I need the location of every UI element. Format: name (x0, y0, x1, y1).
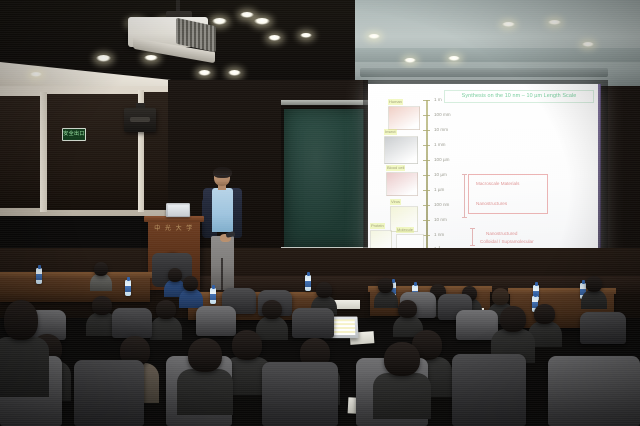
exit-sign-label: 安全出口 (63, 132, 85, 137)
attendee-shoulders (373, 373, 431, 419)
auditorium-seat (292, 308, 334, 338)
wall-column (40, 92, 47, 212)
presenter-leg-gap (221, 258, 223, 290)
presenter-laptop (166, 203, 190, 217)
scale-tick (423, 130, 430, 131)
auditorium-seat (580, 312, 626, 344)
screen-edge-right (598, 84, 601, 262)
lecture-hall-photo: 安全出口 Synthesis on the 10 nm – 10 µm Leng… (0, 0, 640, 426)
scale-tick (423, 115, 430, 116)
slide-thumbnail (388, 106, 420, 130)
attendee-shoulders (256, 316, 288, 340)
projection-screen: Synthesis on the 10 nm – 10 µm Length Sc… (368, 84, 600, 262)
scale-tick (423, 190, 430, 191)
wall-panel (0, 96, 40, 208)
scale-tick (423, 100, 430, 101)
attendee-head (92, 296, 112, 315)
scale-tick (423, 235, 430, 236)
scale-tick-label: 1 mm (434, 143, 445, 148)
attendee-head (188, 338, 222, 372)
screen-roller (360, 68, 608, 77)
slide-thumbnail-label: Human (388, 99, 403, 105)
scale-tick-label: 100 mm (434, 113, 451, 118)
scale-tick-label: 1 µm (434, 188, 444, 193)
auditorium-seat (262, 362, 338, 426)
slide-callout-text: Macroscale Materials (476, 182, 519, 187)
slide-thumbnail (384, 136, 418, 164)
ceiling-spotlight (198, 70, 211, 76)
glasses-icon (215, 175, 229, 179)
ceiling-band (355, 48, 640, 62)
ceiling-spotlight (268, 35, 281, 41)
attendee-head (4, 300, 38, 340)
attendee-head (232, 330, 262, 360)
presenter (200, 168, 244, 290)
attendee-head (398, 300, 417, 318)
attendee-shoulders (581, 289, 607, 309)
slide-annotation-text: Colloidal / Supramolecular (480, 240, 534, 245)
scale-tick-label: 100 µm (434, 158, 449, 163)
attendee-head (168, 268, 182, 282)
scale-tick-label: 1 nm (434, 233, 444, 238)
attendee-head (384, 342, 420, 376)
scale-tick-label: 100 nm (434, 203, 449, 208)
ceiling-spotlight (368, 34, 380, 39)
ceiling-spotlight (254, 18, 270, 25)
attendee-head (534, 304, 555, 324)
attendee-head (492, 288, 509, 305)
auditorium-seat (452, 354, 526, 426)
slide-thumbnail-label: Insect (384, 129, 397, 135)
scale-tick (423, 205, 430, 206)
ceiling-spotlight (240, 12, 254, 18)
ceiling-spotlight (228, 70, 241, 76)
slide-range-brace (472, 228, 473, 246)
slide-thumbnail-label: Virus (390, 199, 401, 205)
auditorium-seat (74, 360, 144, 426)
slide-callout-box (468, 174, 548, 214)
water-bottle (36, 268, 42, 284)
attendee-head (586, 276, 602, 292)
scale-tick-label: 10 µm (434, 173, 447, 178)
loudspeaker-icon (124, 108, 156, 132)
green-chalkboard (284, 109, 364, 249)
ceiling-spotlight (448, 56, 460, 61)
slide-thumbnail-label: Blood cell (386, 165, 405, 171)
attendee-head (262, 300, 282, 319)
ceiling-spotlight (404, 58, 416, 63)
ceiling-spotlight (502, 22, 515, 27)
attendee-shoulders (179, 288, 203, 308)
scale-tick (423, 220, 430, 221)
attendee-head (316, 282, 332, 298)
presenter-laptop-screen (167, 205, 188, 216)
ceiling-light-panel (355, 0, 640, 92)
attendee-head (183, 276, 198, 291)
scale-tick (423, 175, 430, 176)
attendee-head (94, 262, 108, 276)
lectern-engraving: 中 光 大 学 (150, 224, 198, 235)
water-bottle (305, 275, 311, 291)
attendee-shoulders (177, 369, 233, 415)
exit-sign: 安全出口 (62, 128, 86, 141)
slide-annotation-text: Nanostructured (486, 232, 517, 237)
attendee-head (500, 306, 526, 332)
slide-thumbnail-label: Protein (370, 223, 385, 229)
attendee-shoulders (150, 316, 182, 340)
slide-thumbnail (386, 172, 418, 196)
ceiling-spotlight (30, 72, 42, 77)
scale-tick-label: 10 nm (434, 218, 447, 223)
ceiling-spotlight (144, 55, 158, 61)
scale-tick-label: 1 m (434, 98, 442, 103)
water-bottle (210, 288, 216, 304)
handout-papers (334, 300, 360, 309)
slide-title: Synthesis on the 10 nm – 10 µm Length Sc… (444, 90, 594, 103)
scale-tick (423, 145, 430, 146)
presenter-shirt (212, 188, 233, 232)
auditorium-seat (112, 308, 152, 338)
slide-thumbnail-label: Molecule (396, 227, 414, 233)
auditorium-seat (548, 356, 640, 426)
ceiling-spotlight (548, 20, 561, 25)
attendee-shoulders (0, 337, 49, 397)
slide-callout-text: Nanostructures (476, 202, 507, 207)
water-bottle (125, 280, 131, 296)
chalkboard-top-rail (281, 100, 368, 105)
ceiling-spotlight (300, 33, 312, 38)
ceiling-spotlight (212, 18, 227, 25)
scale-tick (423, 160, 430, 161)
ceiling-spotlight (96, 55, 111, 62)
scale-tick-label: 10 mm (434, 128, 448, 133)
attendee-head (378, 278, 393, 293)
auditorium-seat (196, 306, 236, 336)
attendee-head (156, 300, 176, 319)
slide-range-brace (464, 174, 465, 218)
ceiling-spotlight (582, 42, 594, 47)
